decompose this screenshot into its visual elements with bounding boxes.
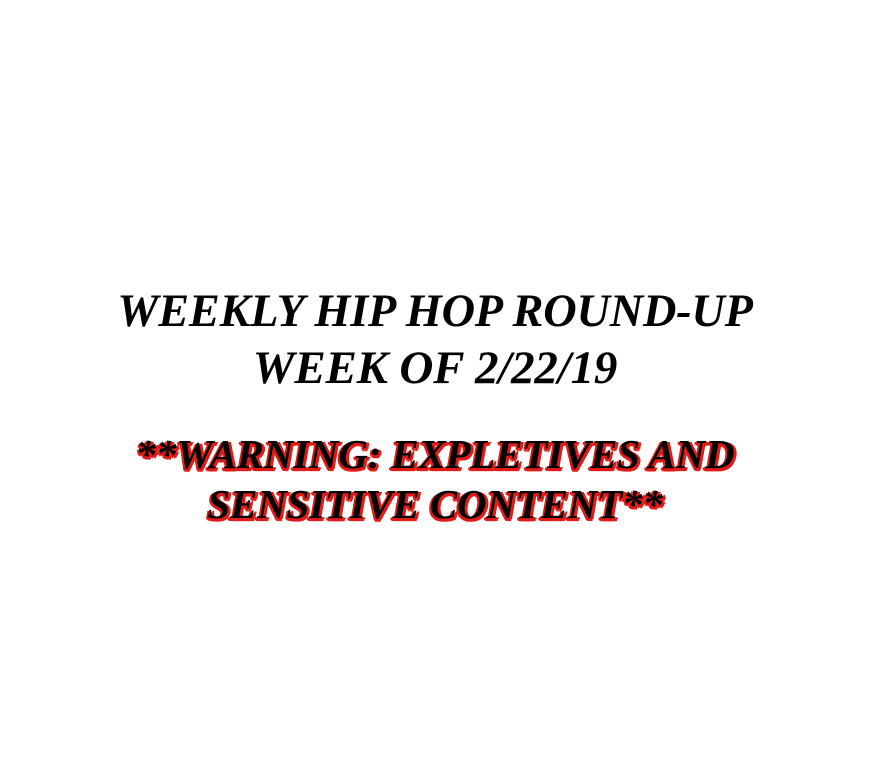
title-line-1: WEEKLY HIP HOP ROUND-UP — [7, 283, 864, 340]
bottom-spacer — [0, 529, 870, 773]
top-spacer — [0, 0, 870, 283]
warning-block: **WARNING: EXPLETIVES AND SENSITIVE CONT… — [0, 429, 870, 529]
title-slide: WEEKLY HIP HOP ROUND-UP WEEK OF 2/22/19 … — [0, 0, 870, 773]
title-warning-gap — [0, 397, 870, 429]
warning-line-1: **WARNING: EXPLETIVES AND — [0, 429, 870, 479]
title-line-2: WEEK OF 2/22/19 — [0, 340, 870, 397]
warning-line-2: SENSITIVE CONTENT** — [0, 479, 870, 529]
title-block: WEEKLY HIP HOP ROUND-UP WEEK OF 2/22/19 — [0, 283, 870, 397]
